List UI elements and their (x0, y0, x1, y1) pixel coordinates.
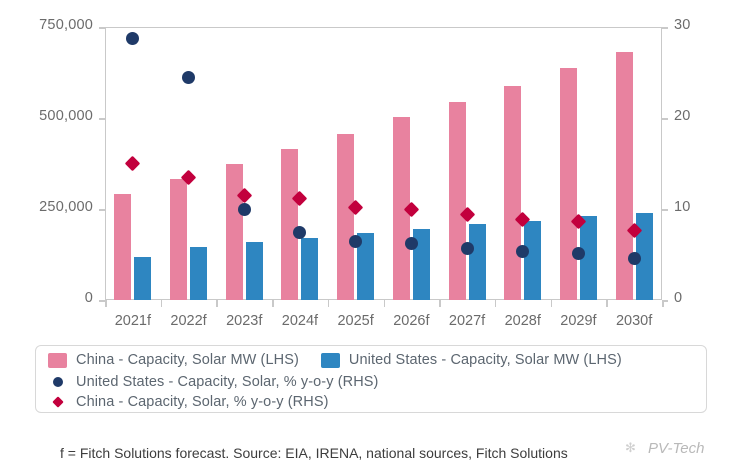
legend-item[interactable]: China - Capacity, Solar, % y-o-y (RHS) (48, 394, 329, 410)
x-axis-tick-label: 2021f (105, 313, 161, 329)
x-axis-tick-label: 2026f (384, 313, 440, 329)
legend-swatch-circle-icon (53, 377, 63, 387)
bar-2027f-series1 (469, 224, 486, 300)
x-axis-tick-label: 2023f (216, 313, 272, 329)
x-axis-tick (495, 300, 497, 307)
legend-row-3: China - Capacity, Solar, % y-o-y (RHS) (48, 394, 329, 410)
right-axis-tick-label: 0 (674, 290, 682, 306)
left-axis-tick-label: 250,000 (39, 199, 93, 215)
chart-legend: China - Capacity, Solar MW (LHS)United S… (35, 345, 707, 413)
x-axis-tick-label: 2024f (272, 313, 328, 329)
left-axis-tick (99, 27, 105, 29)
bar-2021f-series1 (134, 257, 151, 300)
x-axis-tick-label: 2029f (551, 313, 607, 329)
left-axis-tick-label: 0 (85, 290, 93, 306)
legend-label: China - Capacity, Solar MW (LHS) (76, 352, 299, 368)
x-axis-tick (272, 300, 274, 307)
x-axis-tick-label: 2030f (606, 313, 662, 329)
chart-footnote: f = Fitch Solutions forecast. Source: EI… (60, 445, 568, 461)
left-axis-tick (99, 118, 105, 120)
right-axis-tick (662, 118, 668, 120)
legend-label: United States - Capacity, Solar MW (LHS) (349, 352, 622, 368)
x-axis-tick (216, 300, 218, 307)
right-axis-tick (662, 27, 668, 29)
watermark-logo-icon: ✻ (625, 440, 636, 456)
solar-capacity-chart: 0250,000500,000750,000 0102030 2021f2022… (0, 0, 740, 475)
legend-row-2: United States - Capacity, Solar, % y-o-y… (48, 374, 378, 390)
bar-2021f-series0 (114, 194, 131, 300)
bar-2029f-series0 (560, 68, 577, 300)
x-axis-tick (606, 300, 608, 307)
legend-swatch-diamond-icon (52, 396, 63, 407)
legend-swatch-rect-icon (48, 353, 67, 368)
x-axis-tick-label: 2025f (328, 313, 384, 329)
right-axis-tick-label: 20 (674, 108, 691, 124)
legend-label: China - Capacity, Solar, % y-o-y (RHS) (76, 394, 329, 410)
bar-2025f-series0 (337, 134, 354, 300)
circle-marker-2027f (461, 242, 474, 255)
left-axis-tick (99, 209, 105, 211)
x-axis-tick (328, 300, 330, 307)
legend-row-1: China - Capacity, Solar MW (LHS)United S… (48, 352, 622, 368)
x-axis-tick-label: 2022f (161, 313, 217, 329)
left-axis-tick-label: 750,000 (39, 17, 93, 33)
x-axis-tick (662, 300, 664, 307)
bar-2024f-series0 (281, 149, 298, 300)
bar-2022f-series1 (190, 247, 207, 300)
left-axis-tick-label: 500,000 (39, 108, 93, 124)
x-axis-tick (161, 300, 163, 307)
right-axis-tick-label: 30 (674, 17, 691, 33)
bar-2028f-series1 (524, 221, 541, 300)
legend-swatch-rect-icon (321, 353, 340, 368)
x-axis-tick (439, 300, 441, 307)
x-axis-tick (551, 300, 553, 307)
bar-2023f-series0 (226, 164, 243, 301)
bar-2028f-series0 (504, 86, 521, 300)
circle-marker-2029f (572, 247, 585, 260)
right-axis-tick (662, 209, 668, 211)
legend-item[interactable]: China - Capacity, Solar MW (LHS) (48, 352, 299, 368)
legend-label: United States - Capacity, Solar, % y-o-y… (76, 374, 378, 390)
legend-item[interactable]: United States - Capacity, Solar, % y-o-y… (48, 374, 378, 390)
circle-marker-2030f (628, 252, 641, 265)
x-axis-tick (384, 300, 386, 307)
x-axis-tick (105, 300, 107, 307)
watermark-text: PV-Tech (648, 440, 704, 457)
x-axis-tick-label: 2027f (439, 313, 495, 329)
legend-item[interactable]: United States - Capacity, Solar MW (LHS) (321, 352, 622, 368)
circle-marker-2026f (405, 237, 418, 250)
bar-2023f-series1 (246, 242, 263, 300)
bar-2027f-series0 (449, 102, 466, 300)
right-axis-tick-label: 10 (674, 199, 691, 215)
x-axis-tick-label: 2028f (495, 313, 551, 329)
bar-2024f-series1 (301, 238, 318, 300)
bar-2022f-series0 (170, 179, 187, 300)
